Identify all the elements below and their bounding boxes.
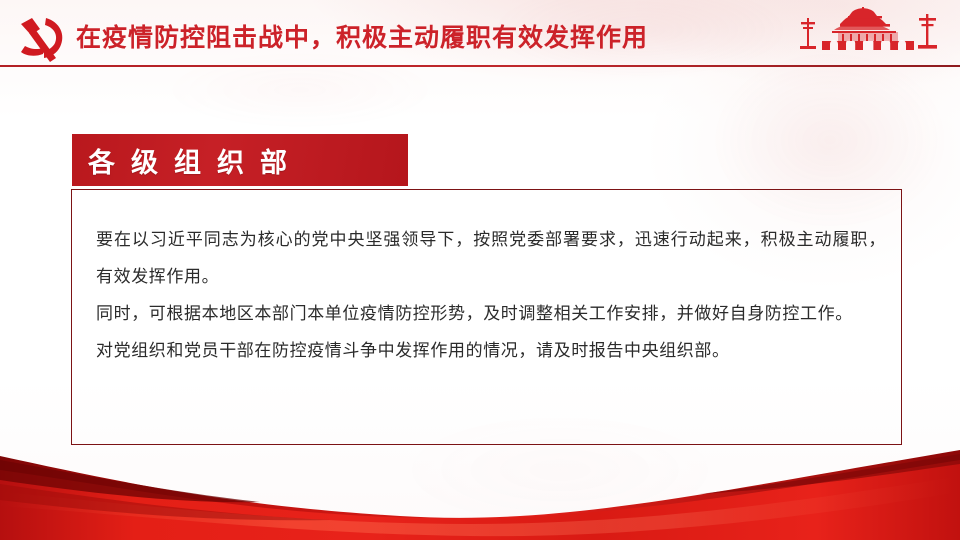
page-title: 在疫情防控阻击战中，积极主动履职有效发挥作用 [76, 25, 648, 50]
section-banner-label: 各级组织部 [72, 141, 303, 180]
red-silk-ribbon-icon [0, 430, 960, 540]
content-paragraph-3: 对党组织和党员干部在防控疫情斗争中发挥作用的情况，请及时报告中央组织部。 [96, 333, 886, 370]
slide-canvas: 在疫情防控阻击战中，积极主动履职有效发挥作用 [0, 0, 960, 540]
slide-header: 在疫情防控阻击战中，积极主动履职有效发挥作用 [0, 0, 960, 68]
tiananmen-gate-icon [760, 0, 960, 68]
header-divider [0, 65, 960, 67]
hammer-and-sickle-icon [12, 14, 70, 64]
content-body: 要在以习近平同志为核心的党中央坚强领导下，按照党委部署要求，迅速行动起来，积极主… [96, 222, 886, 370]
section-banner: 各级组织部 [72, 134, 408, 186]
content-paragraph-1: 要在以习近平同志为核心的党中央坚强领导下，按照党委部署要求，迅速行动起来，积极主… [96, 222, 886, 296]
content-paragraph-2: 同时，可根据本地区本部门本单位疫情防控形势，及时调整相关工作安排，并做好自身防控… [96, 296, 886, 333]
